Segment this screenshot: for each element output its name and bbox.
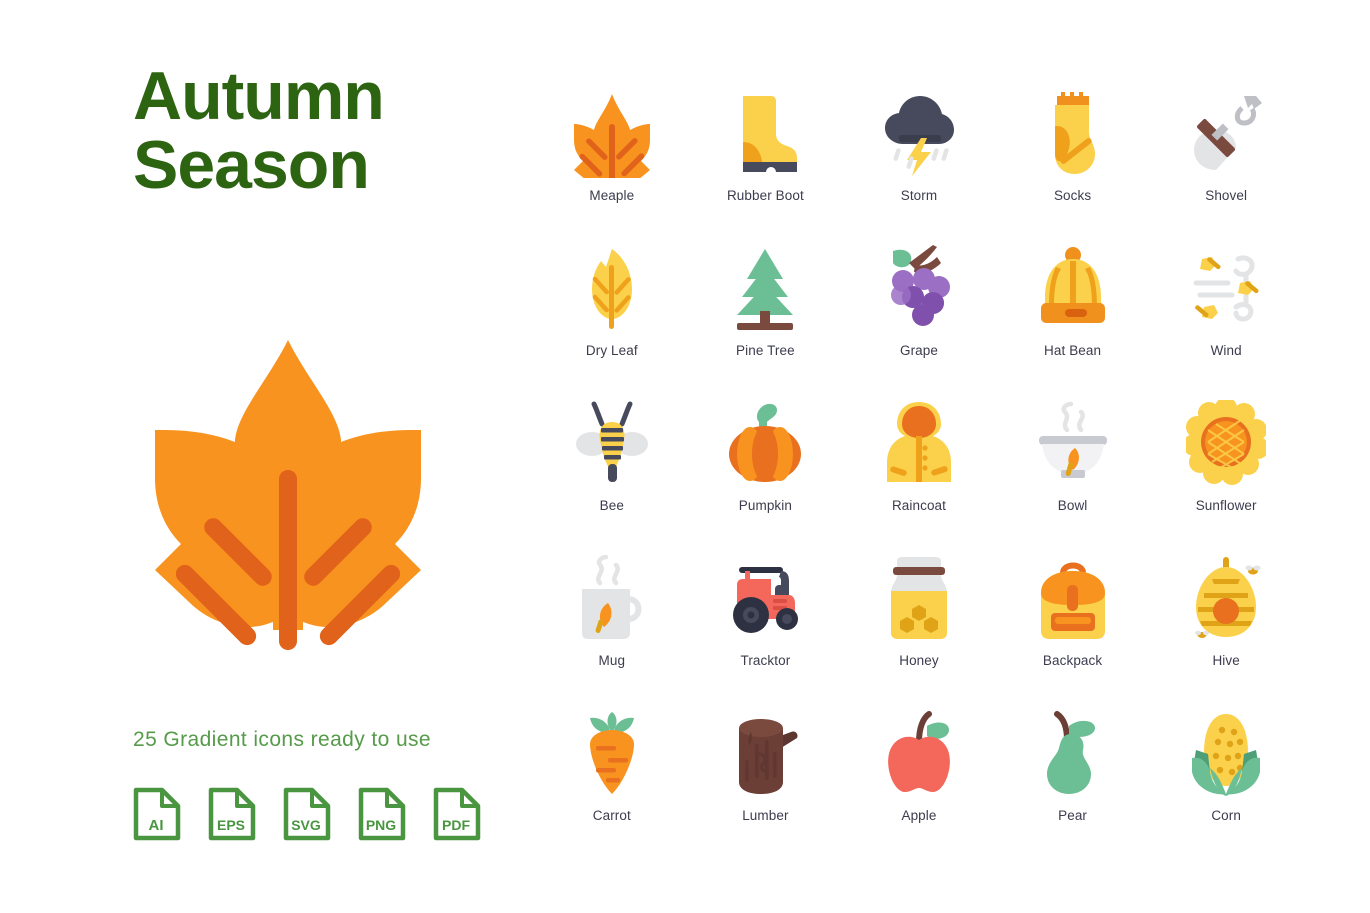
raincoat-icon <box>871 398 967 490</box>
icon-label: Honey <box>899 653 939 668</box>
file-format-svg-label: SVG <box>291 817 321 833</box>
file-format-badges: AI EPS SVG <box>132 786 482 842</box>
icon-label: Grape <box>900 343 938 358</box>
sunflower-icon <box>1178 398 1274 490</box>
icon-cell-mug[interactable]: Mug <box>535 553 689 708</box>
file-format-png: PNG <box>357 786 407 842</box>
icon-cell-dry-leaf[interactable]: Dry Leaf <box>535 243 689 398</box>
file-format-pdf-label: PDF <box>442 817 470 833</box>
carrot-icon <box>564 708 660 800</box>
icon-cell-bowl[interactable]: Bowl <box>996 398 1150 553</box>
icon-label: Pear <box>1058 808 1087 823</box>
icon-cell-pear[interactable]: Pear <box>996 708 1150 863</box>
icon-label: Raincoat <box>892 498 946 513</box>
page-title: Autumn Season <box>133 62 493 201</box>
icon-label: Apple <box>901 808 936 823</box>
beanie-hat-icon <box>1025 243 1121 335</box>
icon-cell-corn[interactable]: Corn <box>1149 708 1303 863</box>
wind-icon <box>1178 243 1274 335</box>
pear-icon <box>1025 708 1121 800</box>
file-format-pdf: PDF <box>432 786 482 842</box>
tractor-icon <box>717 553 813 645</box>
icon-label: Meaple <box>589 188 634 203</box>
file-format-ai-label: AI <box>149 817 164 834</box>
icon-cell-bee[interactable]: Bee <box>535 398 689 553</box>
icon-cell-socks[interactable]: Socks <box>996 88 1150 243</box>
icon-label: Pine Tree <box>736 343 795 358</box>
socks-icon <box>1025 88 1121 180</box>
file-format-ai: AI <box>132 786 182 842</box>
lumber-log-icon <box>717 708 813 800</box>
icon-cell-lumber[interactable]: Lumber <box>689 708 843 863</box>
title-line-1: Autumn <box>133 62 493 131</box>
apple-icon <box>871 708 967 800</box>
backpack-icon <box>1025 553 1121 645</box>
icon-label: Carrot <box>593 808 631 823</box>
corn-icon <box>1178 708 1274 800</box>
icon-cell-hat-bean[interactable]: Hat Bean <box>996 243 1150 398</box>
icon-label: Wind <box>1211 343 1242 358</box>
file-format-png-label: PNG <box>366 817 396 833</box>
icon-cell-sunflower[interactable]: Sunflower <box>1149 398 1303 553</box>
icon-label: Hat Bean <box>1044 343 1101 358</box>
icon-label: Hive <box>1212 653 1239 668</box>
icon-label: Mug <box>599 653 626 668</box>
icon-cell-backpack[interactable]: Backpack <box>996 553 1150 708</box>
file-format-svg: SVG <box>282 786 332 842</box>
icon-label: Rubber Boot <box>727 188 804 203</box>
icon-label: Dry Leaf <box>586 343 638 358</box>
mug-icon <box>564 553 660 645</box>
title-line-2: Season <box>133 131 493 200</box>
icon-cell-raincoat[interactable]: Raincoat <box>842 398 996 553</box>
icon-cell-wind[interactable]: Wind <box>1149 243 1303 398</box>
icon-cell-storm[interactable]: Storm <box>842 88 996 243</box>
storm-cloud-icon <box>871 88 967 180</box>
maple-leaf-icon <box>564 88 660 180</box>
icon-label: Shovel <box>1205 188 1247 203</box>
grape-icon <box>871 243 967 335</box>
soup-bowl-icon <box>1025 398 1121 490</box>
icon-label: Bee <box>600 498 624 513</box>
icon-cell-apple[interactable]: Apple <box>842 708 996 863</box>
pine-tree-icon <box>717 243 813 335</box>
bee-icon <box>564 398 660 490</box>
icon-label: Socks <box>1054 188 1091 203</box>
beehive-icon <box>1178 553 1274 645</box>
pumpkin-icon <box>717 398 813 490</box>
rubber-boot-icon <box>717 88 813 180</box>
tagline-text: 25 Gradient icons ready to use <box>133 728 431 752</box>
icon-cell-meaple[interactable]: Meaple <box>535 88 689 243</box>
icon-cell-tracktor[interactable]: Tracktor <box>689 553 843 708</box>
icon-label: Bowl <box>1058 498 1088 513</box>
icon-label: Backpack <box>1043 653 1102 668</box>
file-format-eps-label: EPS <box>217 817 245 833</box>
icon-label: Tracktor <box>740 653 790 668</box>
icon-grid: Meaple Rubber Boot <box>535 88 1303 863</box>
maple-leaf-illustration <box>133 330 443 660</box>
icon-label: Sunflower <box>1196 498 1257 513</box>
icon-set-preview-page: Autumn Season 25 Gradient icons ready to… <box>0 0 1370 913</box>
dry-leaf-icon <box>564 243 660 335</box>
honey-jar-icon <box>871 553 967 645</box>
icon-label: Corn <box>1211 808 1241 823</box>
shovel-icon <box>1178 88 1274 180</box>
icon-label: Pumpkin <box>739 498 792 513</box>
icon-cell-shovel[interactable]: Shovel <box>1149 88 1303 243</box>
icon-cell-rubber-boot[interactable]: Rubber Boot <box>689 88 843 243</box>
icon-cell-hive[interactable]: Hive <box>1149 553 1303 708</box>
icon-cell-pumpkin[interactable]: Pumpkin <box>689 398 843 553</box>
icon-label: Storm <box>901 188 938 203</box>
icon-cell-grape[interactable]: Grape <box>842 243 996 398</box>
icon-cell-honey[interactable]: Honey <box>842 553 996 708</box>
icon-label: Lumber <box>742 808 788 823</box>
file-format-eps: EPS <box>207 786 257 842</box>
left-panel: Autumn Season 25 Gradient icons ready to… <box>0 0 520 913</box>
icon-cell-carrot[interactable]: Carrot <box>535 708 689 863</box>
icon-cell-pine-tree[interactable]: Pine Tree <box>689 243 843 398</box>
